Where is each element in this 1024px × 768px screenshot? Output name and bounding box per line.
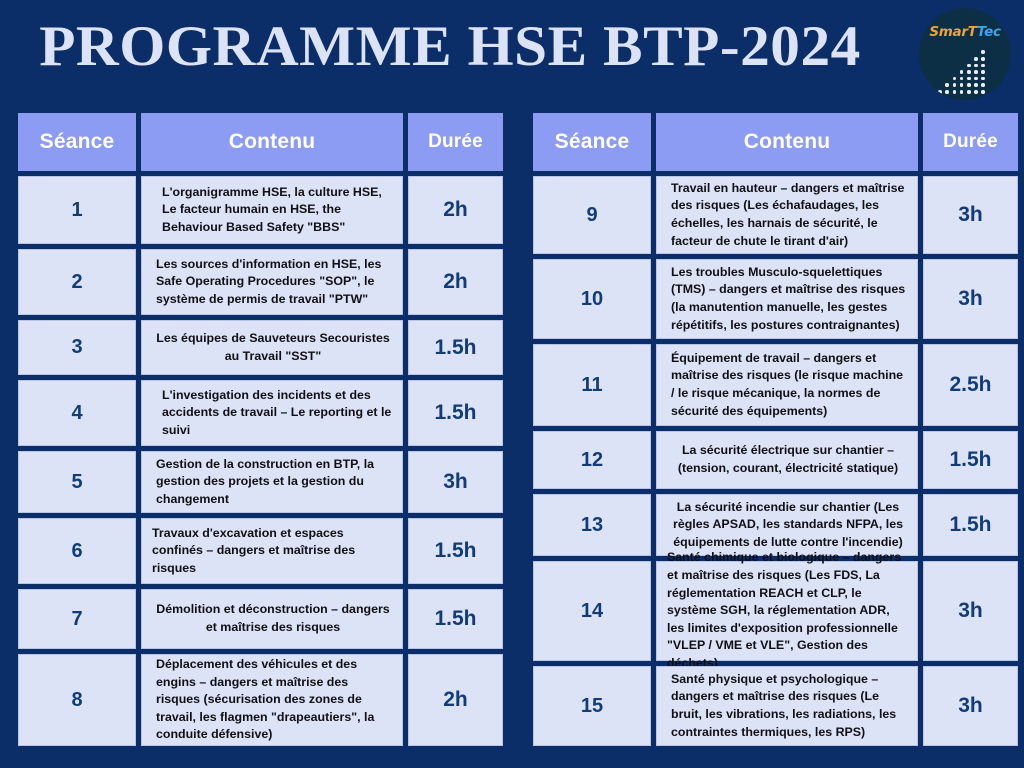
table-row: 14Santé chimique et biologique – dangers… bbox=[533, 561, 1018, 661]
column-header-contenu: Contenu bbox=[141, 113, 403, 171]
duree-value: 3h bbox=[958, 694, 983, 718]
duree-value: 2h bbox=[443, 198, 468, 222]
seance-number: 8 bbox=[71, 689, 82, 712]
table-row: 9Travail en hauteur – dangers et maîtris… bbox=[533, 176, 1018, 254]
seance-number: 2 bbox=[71, 271, 82, 294]
cell-contenu: Les sources d'information en HSE, les Sa… bbox=[141, 249, 403, 315]
cell-seance: 15 bbox=[533, 666, 651, 746]
contenu-text: Travaux d'excavation et espaces confinés… bbox=[142, 519, 402, 584]
cell-seance: 2 bbox=[18, 249, 136, 315]
duree-value: 3h bbox=[958, 287, 983, 311]
schedule-table-right: SéanceContenuDurée9Travail en hauteur – … bbox=[533, 113, 1018, 746]
column-header-label: Séance bbox=[40, 130, 115, 154]
cell-duree: 3h bbox=[408, 451, 503, 513]
table-row: 3Les équipes de Sauveteurs Secouristes a… bbox=[18, 320, 503, 375]
cell-duree: 1.5h bbox=[408, 518, 503, 584]
cell-contenu: Déplacement des véhicules et des engins … bbox=[141, 654, 403, 746]
table-row: 2Les sources d'information en HSE, les S… bbox=[18, 249, 503, 315]
column-header-label: Durée bbox=[943, 131, 998, 153]
cell-seance: 5 bbox=[18, 451, 136, 513]
duree-value: 1.5h bbox=[434, 607, 476, 631]
seance-number: 9 bbox=[586, 204, 597, 227]
seance-number: 3 bbox=[71, 336, 82, 359]
table-row: 10Les troubles Musculo-squelettiques (TM… bbox=[533, 259, 1018, 339]
table-row: 15Santé physique et psychologique – dang… bbox=[533, 666, 1018, 746]
cell-seance: 9 bbox=[533, 176, 651, 254]
column-header-duree: Durée bbox=[923, 113, 1018, 171]
cell-seance: 7 bbox=[18, 589, 136, 649]
cell-duree: 1.5h bbox=[408, 589, 503, 649]
seance-number: 1 bbox=[71, 199, 82, 222]
table-row: 4L'investigation des incidents et des ac… bbox=[18, 380, 503, 446]
table-row: 12La sécurité électrique sur chantier – … bbox=[533, 431, 1018, 489]
table-row: 11Équipement de travail – dangers et maî… bbox=[533, 344, 1018, 426]
contenu-text: L'organigramme HSE, la culture HSE, Le f… bbox=[142, 178, 402, 243]
cell-duree: 1.5h bbox=[923, 431, 1018, 489]
cell-seance: 8 bbox=[18, 654, 136, 746]
contenu-text: Les sources d'information en HSE, les Sa… bbox=[142, 250, 402, 315]
seance-number: 11 bbox=[581, 374, 602, 397]
cell-seance: 13 bbox=[533, 494, 651, 556]
cell-duree: 3h bbox=[923, 259, 1018, 339]
cell-duree: 1.5h bbox=[408, 380, 503, 446]
cell-duree: 1.5h bbox=[923, 494, 1018, 556]
cell-duree: 2h bbox=[408, 654, 503, 746]
column-header-contenu: Contenu bbox=[656, 113, 918, 171]
seance-number: 10 bbox=[581, 288, 603, 311]
duree-value: 2h bbox=[443, 688, 468, 712]
cell-contenu: Les troubles Musculo-squelettiques (TMS)… bbox=[656, 259, 918, 339]
slide-header: PROGRAMME HSE BTP-2024 SmarTTec bbox=[0, 0, 1024, 108]
logo-wordmark: SmarTTec bbox=[919, 24, 1011, 40]
seance-number: 5 bbox=[71, 471, 82, 494]
cell-contenu: Travaux d'excavation et espaces confinés… bbox=[141, 518, 403, 584]
logo-text-part1: SmarT bbox=[929, 24, 977, 40]
cell-contenu: Santé chimique et biologique – dangers e… bbox=[656, 561, 918, 661]
cell-duree: 3h bbox=[923, 666, 1018, 746]
table-row: 5Gestion de la construction en BTP, la g… bbox=[18, 451, 503, 513]
cell-seance: 12 bbox=[533, 431, 651, 489]
contenu-text: Travail en hauteur – dangers et maîtrise… bbox=[657, 174, 917, 256]
cell-seance: 10 bbox=[533, 259, 651, 339]
cell-seance: 4 bbox=[18, 380, 136, 446]
cell-duree: 3h bbox=[923, 561, 1018, 661]
slide-root: PROGRAMME HSE BTP-2024 SmarTTec SéanceCo… bbox=[0, 0, 1024, 768]
contenu-text: Santé chimique et biologique – dangers e… bbox=[657, 543, 917, 678]
column-header-duree: Durée bbox=[408, 113, 503, 171]
duree-value: 3h bbox=[443, 470, 468, 494]
seance-number: 7 bbox=[71, 608, 82, 631]
duree-value: 3h bbox=[958, 203, 983, 227]
cell-seance: 14 bbox=[533, 561, 651, 661]
duree-value: 1.5h bbox=[949, 513, 991, 537]
seance-number: 6 bbox=[71, 540, 82, 563]
duree-value: 2.5h bbox=[949, 373, 991, 397]
cell-contenu: Santé physique et psychologique – danger… bbox=[656, 666, 918, 746]
duree-value: 1.5h bbox=[434, 539, 476, 563]
duree-value: 1.5h bbox=[949, 448, 991, 472]
duree-value: 3h bbox=[958, 599, 983, 623]
cell-duree: 2.5h bbox=[923, 344, 1018, 426]
column-header-seance: Séance bbox=[533, 113, 651, 171]
contenu-text: Les troubles Musculo-squelettiques (TMS)… bbox=[657, 258, 917, 340]
cell-contenu: La sécurité électrique sur chantier – (t… bbox=[656, 431, 918, 489]
table-row: 6Travaux d'excavation et espaces confiné… bbox=[18, 518, 503, 584]
cell-contenu: L'organigramme HSE, la culture HSE, Le f… bbox=[141, 176, 403, 244]
seance-number: 14 bbox=[581, 600, 603, 623]
contenu-text: Les équipes de Sauveteurs Secouristes au… bbox=[142, 324, 402, 371]
cell-contenu: Équipement de travail – dangers et maîtr… bbox=[656, 344, 918, 426]
table-header-row: SéanceContenuDurée bbox=[18, 113, 503, 171]
contenu-text: Gestion de la construction en BTP, la ge… bbox=[142, 450, 402, 515]
cell-duree: 1.5h bbox=[408, 320, 503, 375]
duree-value: 1.5h bbox=[434, 401, 476, 425]
cell-seance: 1 bbox=[18, 176, 136, 244]
seance-number: 15 bbox=[581, 695, 603, 718]
logo-text-part2: Tec bbox=[977, 24, 1001, 40]
cell-seance: 6 bbox=[18, 518, 136, 584]
cell-contenu: Démolition et déconstruction – dangers e… bbox=[141, 589, 403, 649]
cell-duree: 2h bbox=[408, 176, 503, 244]
seance-number: 4 bbox=[71, 402, 82, 425]
duree-value: 1.5h bbox=[434, 336, 476, 360]
contenu-text: La sécurité électrique sur chantier – (t… bbox=[657, 436, 917, 483]
contenu-text: L'investigation des incidents et des acc… bbox=[142, 381, 402, 446]
seance-number: 13 bbox=[581, 514, 603, 537]
table-row: 1L'organigramme HSE, la culture HSE, Le … bbox=[18, 176, 503, 244]
column-header-label: Durée bbox=[428, 131, 483, 153]
cell-seance: 11 bbox=[533, 344, 651, 426]
contenu-text: Déplacement des véhicules et des engins … bbox=[142, 650, 402, 750]
table-row: 7Démolition et déconstruction – dangers … bbox=[18, 589, 503, 649]
cell-duree: 2h bbox=[408, 249, 503, 315]
cell-contenu: Gestion de la construction en BTP, la ge… bbox=[141, 451, 403, 513]
cell-contenu: Travail en hauteur – dangers et maîtrise… bbox=[656, 176, 918, 254]
column-header-label: Séance bbox=[555, 130, 630, 154]
contenu-text: Démolition et déconstruction – dangers e… bbox=[142, 595, 402, 642]
schedule-table-left: SéanceContenuDurée1L'organigramme HSE, l… bbox=[18, 113, 503, 746]
seance-number: 12 bbox=[581, 449, 603, 472]
cell-contenu: L'investigation des incidents et des acc… bbox=[141, 380, 403, 446]
table-row: 8Déplacement des véhicules et des engins… bbox=[18, 654, 503, 746]
page-title: PROGRAMME HSE BTP-2024 bbox=[0, 14, 918, 79]
column-header-label: Contenu bbox=[744, 130, 831, 154]
table-header-row: SéanceContenuDurée bbox=[533, 113, 1018, 171]
cell-seance: 3 bbox=[18, 320, 136, 375]
column-header-seance: Séance bbox=[18, 113, 136, 171]
cell-duree: 3h bbox=[923, 176, 1018, 254]
contenu-text: Équipement de travail – dangers et maîtr… bbox=[657, 344, 917, 426]
cell-contenu: Les équipes de Sauveteurs Secouristes au… bbox=[141, 320, 403, 375]
column-header-label: Contenu bbox=[229, 130, 316, 154]
smarttec-logo: SmarTTec bbox=[919, 8, 1011, 100]
duree-value: 2h bbox=[443, 270, 468, 294]
contenu-text: Santé physique et psychologique – danger… bbox=[657, 665, 917, 747]
